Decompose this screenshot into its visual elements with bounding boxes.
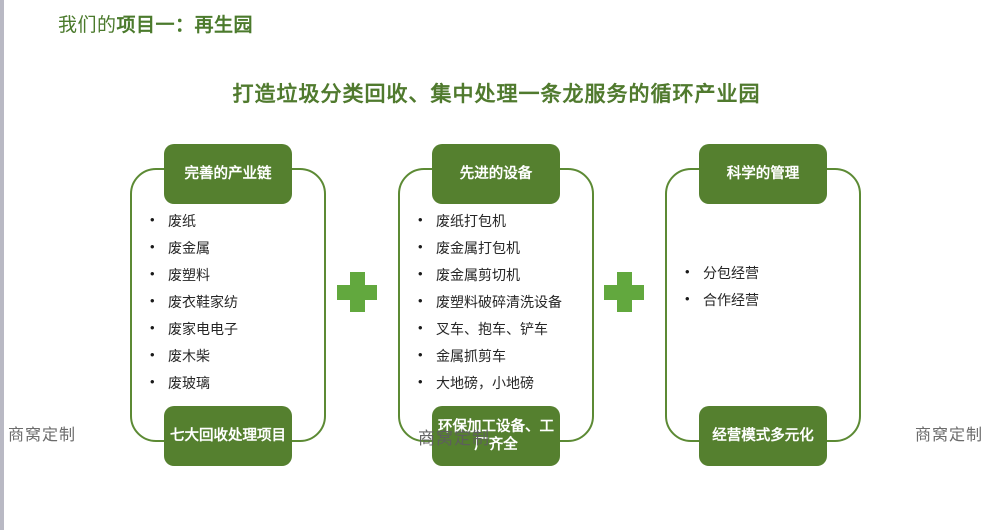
column-header: 先进的设备 xyxy=(432,144,560,204)
list-item: 合作经营 xyxy=(679,293,857,307)
column-management: 科学的管理 分包经营 合作经营 经营模式多元化 xyxy=(665,144,865,466)
list-item: 分包经营 xyxy=(679,266,857,280)
column-industry-chain: 完善的产业链 废纸 废金属 废塑料 废衣鞋家纺 废家电电子 废木柴 废玻璃 七大… xyxy=(130,144,330,466)
page-title-strong: 项目一：再生园 xyxy=(117,15,254,36)
list-item: 废塑料破碎清洗设备 xyxy=(412,295,590,309)
list-item: 废家电电子 xyxy=(144,322,322,336)
column-item-list: 废纸打包机 废金属打包机 废金属剪切机 废塑料破碎清洗设备 叉车、抱车、铲车 金… xyxy=(412,214,590,403)
column-equipment: 先进的设备 废纸打包机 废金属打包机 废金属剪切机 废塑料破碎清洗设备 叉车、抱… xyxy=(398,144,598,466)
column-header: 完善的产业链 xyxy=(164,144,292,204)
columns-container: 完善的产业链 废纸 废金属 废塑料 废衣鞋家纺 废家电电子 废木柴 废玻璃 七大… xyxy=(0,144,993,474)
column-header: 科学的管理 xyxy=(699,144,827,204)
list-item: 金属抓剪车 xyxy=(412,349,590,363)
main-title: 打造垃圾分类回收、集中处理一条龙服务的循环产业园 xyxy=(0,78,993,108)
list-item: 叉车、抱车、铲车 xyxy=(412,322,590,336)
column-item-list: 分包经营 合作经营 xyxy=(679,266,857,320)
list-item: 废塑料 xyxy=(144,268,322,282)
plus-icon xyxy=(604,272,644,312)
list-item: 废金属剪切机 xyxy=(412,268,590,282)
plus-icon-vertical-bar xyxy=(350,272,365,312)
column-item-list: 废纸 废金属 废塑料 废衣鞋家纺 废家电电子 废木柴 废玻璃 xyxy=(144,214,322,403)
list-item: 废玻璃 xyxy=(144,376,322,390)
list-item: 废纸 xyxy=(144,214,322,228)
list-item: 废金属 xyxy=(144,241,322,255)
watermark-left: 商窝定制 xyxy=(8,421,76,445)
watermark-center-overlay: 商窝定制 xyxy=(418,424,490,449)
page-title-prefix: 我们的 xyxy=(58,15,117,36)
list-item: 废纸打包机 xyxy=(412,214,590,228)
list-item: 废木柴 xyxy=(144,349,322,363)
watermark-right: 商窝定制 xyxy=(915,421,983,445)
list-item: 大地磅，小地磅 xyxy=(412,376,590,390)
page-title: 我们的项目一：再生园 xyxy=(58,10,253,37)
list-item: 废衣鞋家纺 xyxy=(144,295,322,309)
list-item: 废金属打包机 xyxy=(412,241,590,255)
plus-icon xyxy=(337,272,377,312)
column-footer: 经营模式多元化 xyxy=(699,406,827,466)
plus-icon-vertical-bar xyxy=(617,272,632,312)
column-footer: 七大回收处理项目 xyxy=(164,406,292,466)
